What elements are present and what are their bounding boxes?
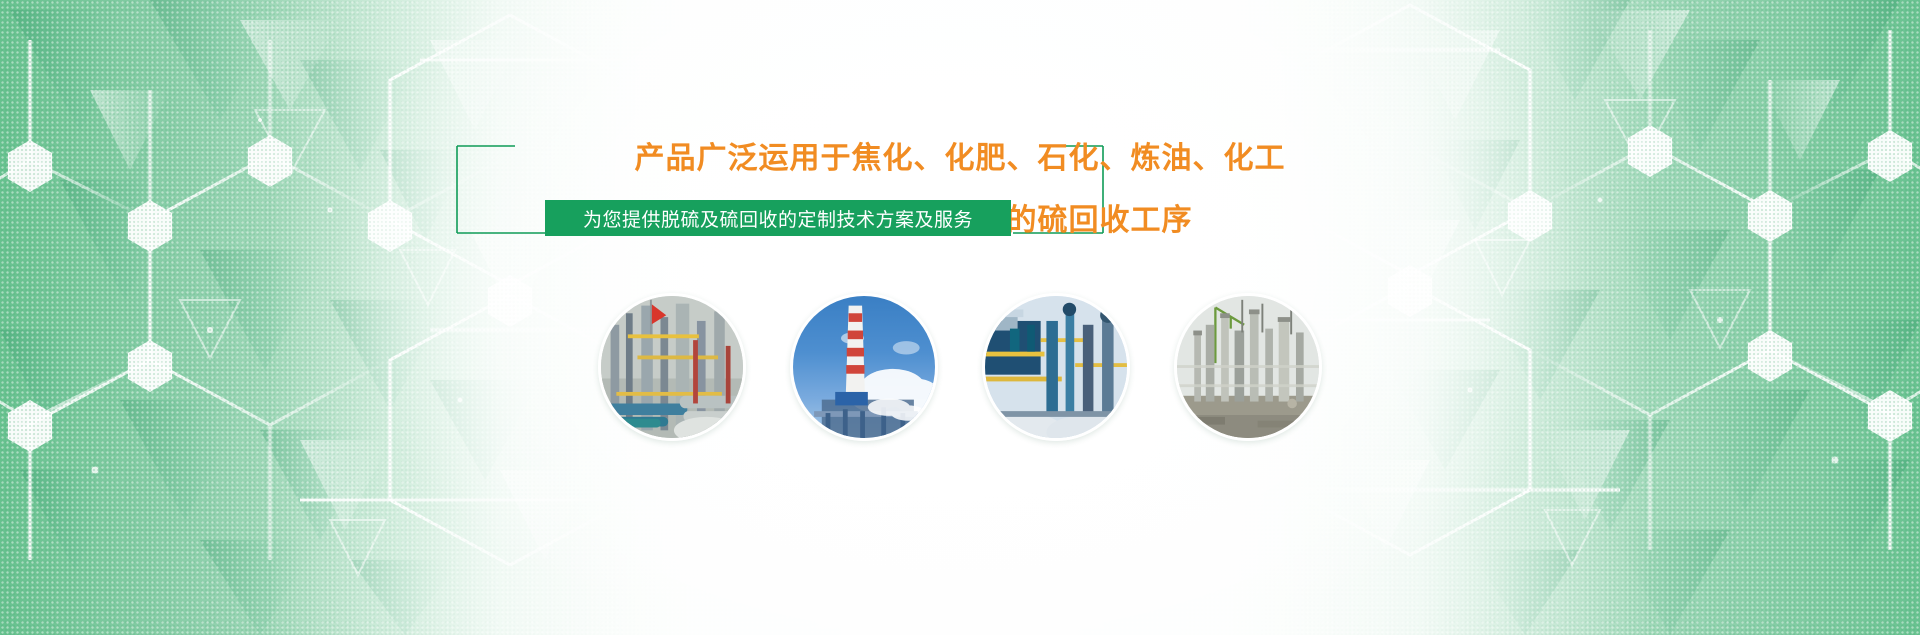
photo-blue-process-tanks [982,293,1130,441]
hero-banner: 产品广泛运用于焦化、化肥、石化、炼油、化工 等领域中的湿法脱硫的硫回收工序 为您… [0,0,1920,635]
subtitle-text: 为您提供脱硫及硫回收的定制技术方案及服务 [583,205,973,232]
subtitle-banner: 为您提供脱硫及硫回收的定制技术方案及服务 [545,200,1011,236]
photo-chimney-stack-blue-sky [790,293,938,441]
photo-strip [0,293,1920,441]
headline-line-1: 产品广泛运用于焦化、化肥、石化、炼油、化工 [0,143,1920,174]
page-title: 产品广泛运用于焦化、化肥、石化、炼油、化工 等领域中的湿法脱硫的硫回收工序 [0,112,1920,267]
photo-refinery-towers [1174,293,1322,441]
photo-desulfurization-plant-piping [598,293,746,441]
